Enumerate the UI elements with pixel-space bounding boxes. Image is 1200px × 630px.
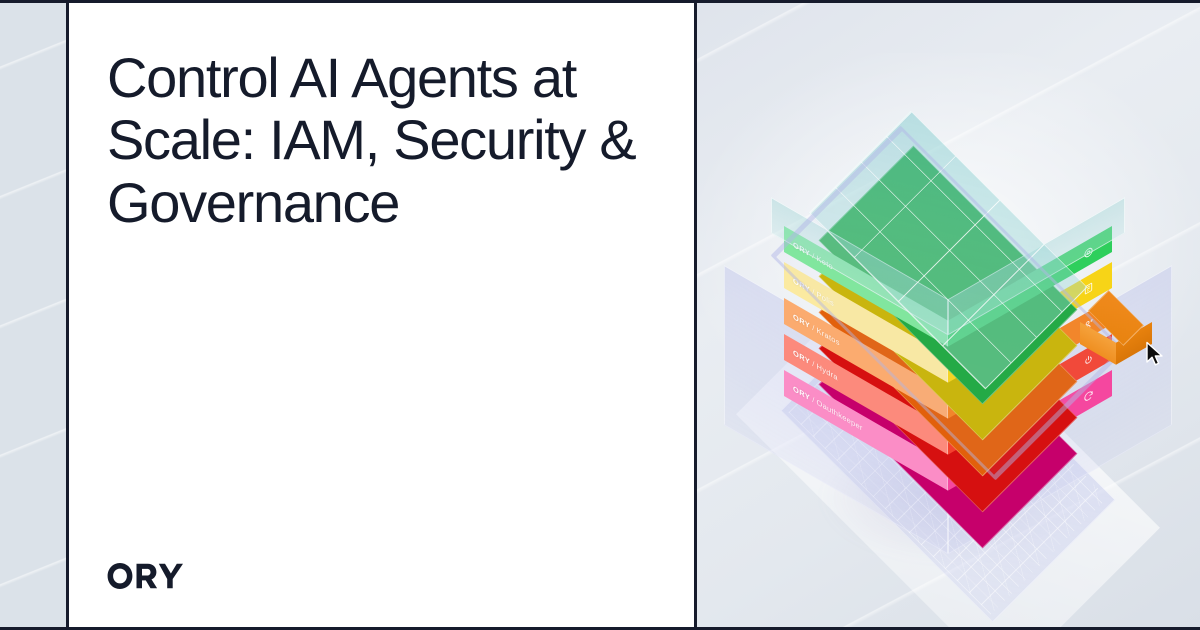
social-card: Control AI Agents at Scale: IAM, Securit… — [0, 0, 1200, 630]
ory-wordmark-icon — [107, 563, 185, 589]
illustration-panel: ORY/Oauthkeeper ORY/Hydra — [697, 3, 1200, 627]
right-divider — [694, 3, 697, 627]
ory-logo — [107, 563, 654, 589]
page-title: Control AI Agents at Scale: IAM, Securit… — [107, 47, 647, 234]
isometric-scene: ORY/Oauthkeeper ORY/Hydra — [697, 3, 1200, 627]
left-content-panel: Control AI Agents at Scale: IAM, Securit… — [69, 3, 694, 627]
left-divider — [66, 3, 69, 627]
left-texture-strip — [0, 3, 66, 627]
pointer-cursor-icon — [1145, 341, 1167, 367]
